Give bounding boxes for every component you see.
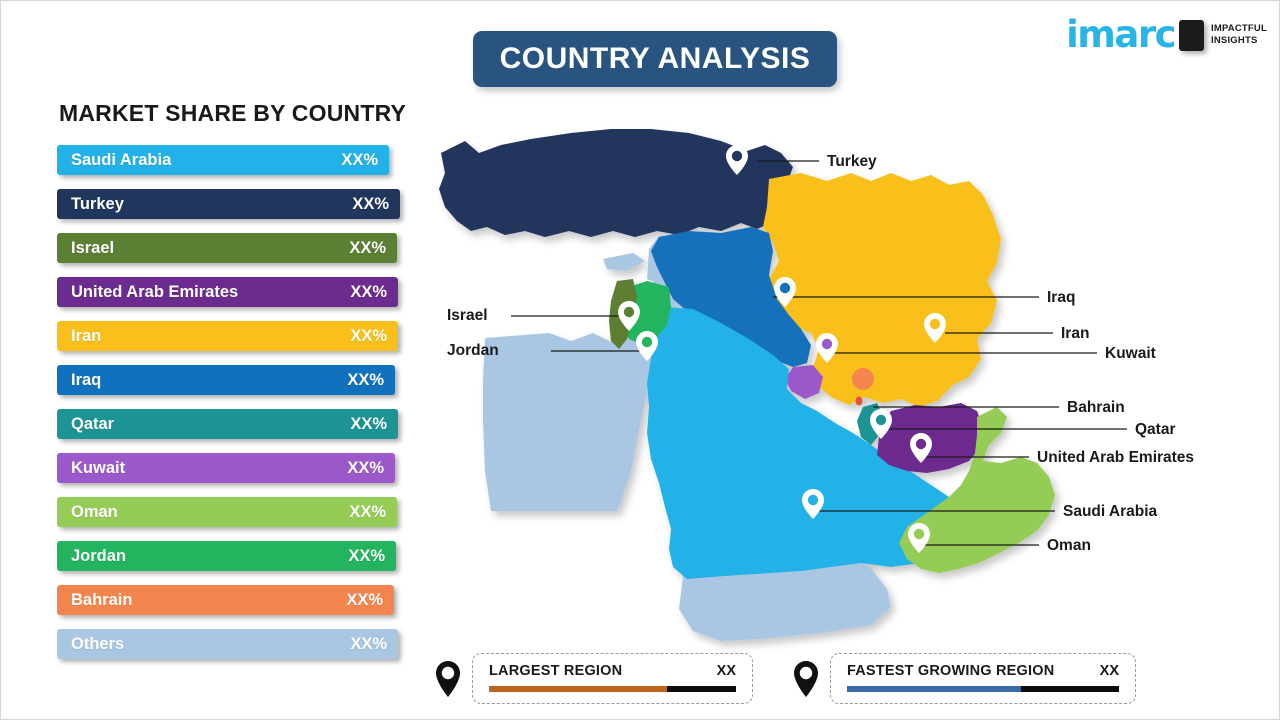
market-share-bar[interactable]: JordanXX%: [57, 541, 396, 571]
market-share-bar[interactable]: QatarXX%: [57, 409, 398, 439]
market-share-bar-label: Qatar: [71, 415, 350, 434]
middle-east-map: Turkey Iraq Iran Kuwait Bahrain Qatar Un…: [421, 111, 1280, 656]
market-share-bar-label: Saudi Arabia: [71, 151, 341, 170]
logo-divider: [1179, 20, 1204, 51]
map-label-oman: Oman: [1047, 537, 1091, 555]
imarc-logo: imarc IMPACTFUL INSIGHTS: [1066, 18, 1267, 52]
market-share-heading: MARKET SHARE BY COUNTRY: [59, 100, 406, 127]
market-share-bar-label: Others: [71, 635, 350, 654]
market-share-bar-label: Turkey: [71, 195, 352, 214]
fastest-growing-region-legend: FASTEST GROWING REGION XX: [791, 653, 1136, 704]
fastest-growing-region-fill: [847, 686, 1021, 692]
market-share-bar[interactable]: IsraelXX%: [57, 233, 397, 263]
market-share-bar[interactable]: IranXX%: [57, 321, 398, 351]
market-share-bar-label: Jordan: [71, 547, 348, 566]
map-label-turkey: Turkey: [827, 153, 877, 171]
map-label-qatar: Qatar: [1135, 421, 1176, 439]
market-share-bar-label: United Arab Emirates: [71, 283, 350, 302]
fastest-growing-region-track: [847, 686, 1119, 692]
map-region-bahrain-dot2: [856, 397, 863, 406]
market-share-bar-value: XX%: [350, 635, 387, 654]
largest-region-title: LARGEST REGION: [489, 663, 622, 679]
market-share-bar-label: Kuwait: [71, 459, 347, 478]
market-share-bar-label: Israel: [71, 239, 349, 258]
map-svg: [421, 111, 1280, 656]
market-share-bar-value: XX%: [341, 151, 378, 170]
location-pin-icon: [433, 659, 463, 699]
location-pin-icon: [791, 659, 821, 699]
market-share-bar-label: Bahrain: [71, 591, 346, 610]
logo-wordmark: imarc: [1066, 18, 1175, 52]
logo-tagline: IMPACTFUL INSIGHTS: [1211, 23, 1267, 47]
logo-tagline-line2: INSIGHTS: [1211, 35, 1267, 47]
market-share-bar-value: XX%: [349, 239, 386, 258]
largest-region-box: LARGEST REGION XX: [472, 653, 753, 704]
market-share-bar-label: Iraq: [71, 371, 347, 390]
map-label-iran: Iran: [1061, 325, 1089, 343]
map-label-jordan: Jordan: [447, 342, 499, 360]
page-title: COUNTRY ANALYSIS: [500, 42, 811, 76]
largest-region-value: XX: [717, 663, 736, 679]
fastest-growing-region-value: XX: [1100, 663, 1119, 679]
largest-region-legend: LARGEST REGION XX: [433, 653, 753, 704]
map-label-kuwait: Kuwait: [1105, 345, 1156, 363]
map-label-uae: United Arab Emirates: [1037, 449, 1194, 467]
market-share-bar-value: XX%: [349, 503, 386, 522]
largest-region-fill: [489, 686, 667, 692]
map-region-turkey: [439, 129, 793, 237]
logo-tagline-line1: IMPACTFUL: [1211, 23, 1267, 35]
slide-canvas: COUNTRY ANALYSIS imarc IMPACTFUL INSIGHT…: [0, 0, 1280, 720]
market-share-bar-value: XX%: [352, 195, 389, 214]
fastest-growing-region-box: FASTEST GROWING REGION XX: [830, 653, 1136, 704]
map-label-bahrain: Bahrain: [1067, 399, 1125, 417]
market-share-bar[interactable]: OmanXX%: [57, 497, 397, 527]
page-title-banner: COUNTRY ANALYSIS: [473, 31, 837, 87]
market-share-bar[interactable]: OthersXX%: [57, 629, 398, 659]
market-share-bar[interactable]: TurkeyXX%: [57, 189, 400, 219]
market-share-bar-label: Iran: [71, 327, 350, 346]
market-share-bar[interactable]: BahrainXX%: [57, 585, 394, 615]
map-region-others-egypt: [483, 333, 655, 511]
market-share-bar-value: XX%: [346, 591, 383, 610]
map-label-iraq: Iraq: [1047, 289, 1075, 307]
market-share-bar[interactable]: IraqXX%: [57, 365, 395, 395]
market-share-bar-value: XX%: [350, 415, 387, 434]
largest-region-track: [489, 686, 736, 692]
market-share-bar[interactable]: Saudi ArabiaXX%: [57, 145, 389, 175]
market-share-bar-value: XX%: [347, 371, 384, 390]
market-share-bar-label: Oman: [71, 503, 349, 522]
market-share-bar-value: XX%: [348, 547, 385, 566]
map-label-saudi-arabia: Saudi Arabia: [1063, 503, 1157, 521]
market-share-bar[interactable]: United Arab EmiratesXX%: [57, 277, 398, 307]
fastest-growing-region-title: FASTEST GROWING REGION: [847, 663, 1054, 679]
market-share-bar-value: XX%: [347, 459, 384, 478]
map-label-israel: Israel: [447, 307, 488, 325]
map-region-others-cyprus: [603, 253, 645, 271]
map-region-bahrain: [852, 368, 874, 390]
market-share-bar-list: Saudi ArabiaXX%TurkeyXX%IsraelXX%United …: [57, 145, 407, 673]
market-share-bar-value: XX%: [350, 327, 387, 346]
market-share-bar[interactable]: KuwaitXX%: [57, 453, 395, 483]
market-share-bar-value: XX%: [350, 283, 387, 302]
